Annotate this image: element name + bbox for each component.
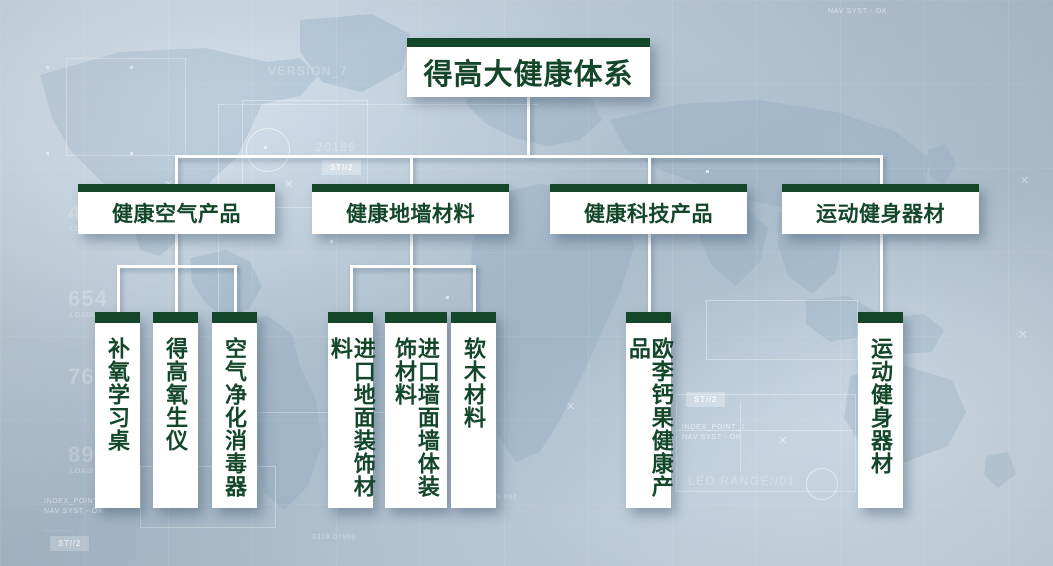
node-floor[interactable]: 进口地面装饰材料 — [328, 312, 373, 508]
connector-floorwall-to-wall — [410, 265, 413, 312]
node-fitness-label: 运动健身器材 — [868, 323, 893, 508]
node-purifier[interactable]: 空气净化消毒器 — [212, 312, 257, 508]
node-floorwall-label: 健康地墙材料 — [312, 192, 509, 234]
node-calcium-label: 欧李钙果健康产品 — [626, 323, 674, 508]
node-sports-accent-bar — [782, 184, 979, 192]
connector-air-to-desk — [117, 265, 120, 312]
connector-floorwall-to-floor — [350, 265, 353, 312]
connector-root-to-air — [175, 155, 178, 184]
node-floorwall-accent-bar — [312, 184, 509, 192]
connector-floorwall-to-cork — [473, 265, 476, 312]
node-oxygen-label: 得高氧生仪 — [163, 323, 188, 508]
node-wall-label: 进口墙面墙体装饰材料 — [392, 323, 440, 508]
node-fitness-accent-bar — [858, 312, 903, 323]
node-calcium[interactable]: 欧李钙果健康产品 — [626, 312, 671, 508]
node-fitness[interactable]: 运动健身器材 — [858, 312, 903, 508]
connector-root-stem — [527, 97, 530, 155]
connector-floorwall-stem — [410, 234, 413, 265]
diagram-canvas: ✕ ✕ ✕ ✕ ✕ ✕ ✕ NAV SYST - OK VERSION_7 43… — [0, 0, 1053, 566]
connector-air-to-oxygen — [175, 265, 178, 312]
node-wall-accent-bar — [385, 312, 447, 323]
node-root-label: 得高大健康体系 — [407, 47, 650, 97]
node-root[interactable]: 得高大健康体系 — [407, 38, 650, 97]
connector-air-stem — [175, 234, 178, 265]
node-air-accent-bar — [78, 184, 275, 192]
node-desk-label: 补氧学习桌 — [105, 323, 130, 508]
connector-tech-to-calcium — [648, 234, 651, 312]
node-cork[interactable]: 软木材料 — [451, 312, 496, 508]
node-floor-label: 进口地面装饰材料 — [328, 323, 376, 508]
node-air-label: 健康空气产品 — [78, 192, 275, 234]
node-floorwall[interactable]: 健康地墙材料 — [312, 184, 509, 234]
connector-air-to-purifier — [234, 265, 237, 312]
connector-floorwall-bus — [350, 265, 476, 268]
node-root-accent-bar — [407, 38, 650, 47]
node-floor-accent-bar — [328, 312, 373, 323]
node-sports[interactable]: 运动健身器材 — [782, 184, 979, 234]
node-purifier-label: 空气净化消毒器 — [222, 323, 247, 508]
connector-sports-to-fitness — [880, 234, 883, 312]
node-tech-accent-bar — [550, 184, 747, 192]
node-air[interactable]: 健康空气产品 — [78, 184, 275, 234]
connector-root-to-sports — [880, 155, 883, 184]
node-cork-accent-bar — [451, 312, 496, 323]
connector-root-bus — [175, 155, 880, 158]
node-cork-label: 软木材料 — [461, 323, 486, 508]
connector-root-to-floorwall — [410, 155, 413, 184]
node-sports-label: 运动健身器材 — [782, 192, 979, 234]
node-tech[interactable]: 健康科技产品 — [550, 184, 747, 234]
node-calcium-accent-bar — [626, 312, 671, 323]
node-tech-label: 健康科技产品 — [550, 192, 747, 234]
connector-root-to-tech — [648, 155, 651, 184]
node-oxygen[interactable]: 得高氧生仪 — [153, 312, 198, 508]
node-purifier-accent-bar — [212, 312, 257, 323]
node-desk-accent-bar — [95, 312, 140, 323]
node-desk[interactable]: 补氧学习桌 — [95, 312, 140, 508]
node-wall[interactable]: 进口墙面墙体装饰材料 — [385, 312, 447, 508]
node-oxygen-accent-bar — [153, 312, 198, 323]
